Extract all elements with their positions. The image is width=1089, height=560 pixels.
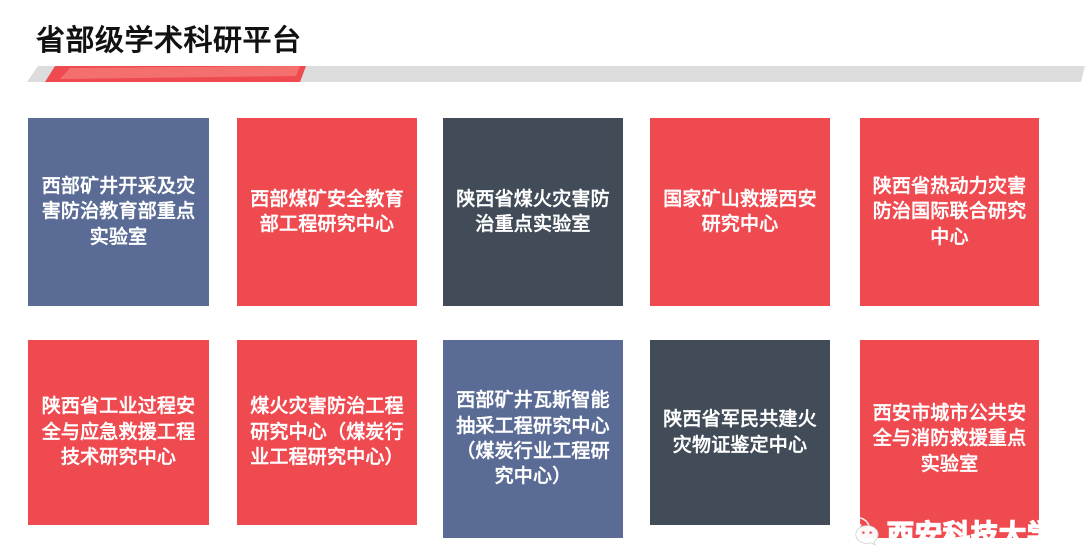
platform-card-label: 煤火灾害防治工程研究中心（煤炭行业工程研究中心） xyxy=(245,394,409,470)
platform-card[interactable]: 煤火灾害防治工程研究中心（煤炭行业工程研究中心） xyxy=(237,340,417,525)
platform-card[interactable]: 陕西省煤火灾害防治重点实验室 xyxy=(443,118,623,306)
platform-card[interactable]: 西部矿井开采及灾害防治教育部重点实验室 xyxy=(28,118,209,306)
platform-card-label: 国家矿山救援西安研究中心 xyxy=(658,187,822,238)
platform-card-label: 陕西省热动力灾害防治国际联合研究中心 xyxy=(868,174,1031,250)
platform-card[interactable]: 陕西省热动力灾害防治国际联合研究中心 xyxy=(860,118,1039,306)
platform-card-label: 陕西省军民共建火灾物证鉴定中心 xyxy=(658,407,822,458)
platform-card-label: 西部矿井开采及灾害防治教育部重点实验室 xyxy=(36,174,201,250)
platform-card[interactable]: 陕西省军民共建火灾物证鉴定中心 xyxy=(650,340,830,525)
platform-card[interactable]: 国家矿山救援西安研究中心 xyxy=(650,118,830,306)
platform-card[interactable]: 西部煤矿安全教育部工程研究中心 xyxy=(237,118,417,306)
platform-card-grid: 西部矿井开采及灾害防治教育部重点实验室 西部煤矿安全教育部工程研究中心 陕西省煤… xyxy=(0,0,1089,560)
platform-card-label: 西部矿井瓦斯智能抽采工程研究中心（煤炭行业工程研究中心） xyxy=(451,388,615,490)
platform-card-label: 陕西省工业过程安全与应急救援工程技术研究中心 xyxy=(36,394,201,470)
platform-card[interactable]: 西安市城市公共安全与消防救援重点实验室 xyxy=(860,340,1039,538)
platform-card-label: 陕西省煤火灾害防治重点实验室 xyxy=(451,187,615,238)
platform-card-label: 西安市城市公共安全与消防救援重点实验室 xyxy=(868,401,1031,477)
platform-card[interactable]: 陕西省工业过程安全与应急救援工程技术研究中心 xyxy=(28,340,209,525)
platform-card-label: 西部煤矿安全教育部工程研究中心 xyxy=(245,187,409,238)
platform-card[interactable]: 西部矿井瓦斯智能抽采工程研究中心（煤炭行业工程研究中心） xyxy=(443,340,623,538)
